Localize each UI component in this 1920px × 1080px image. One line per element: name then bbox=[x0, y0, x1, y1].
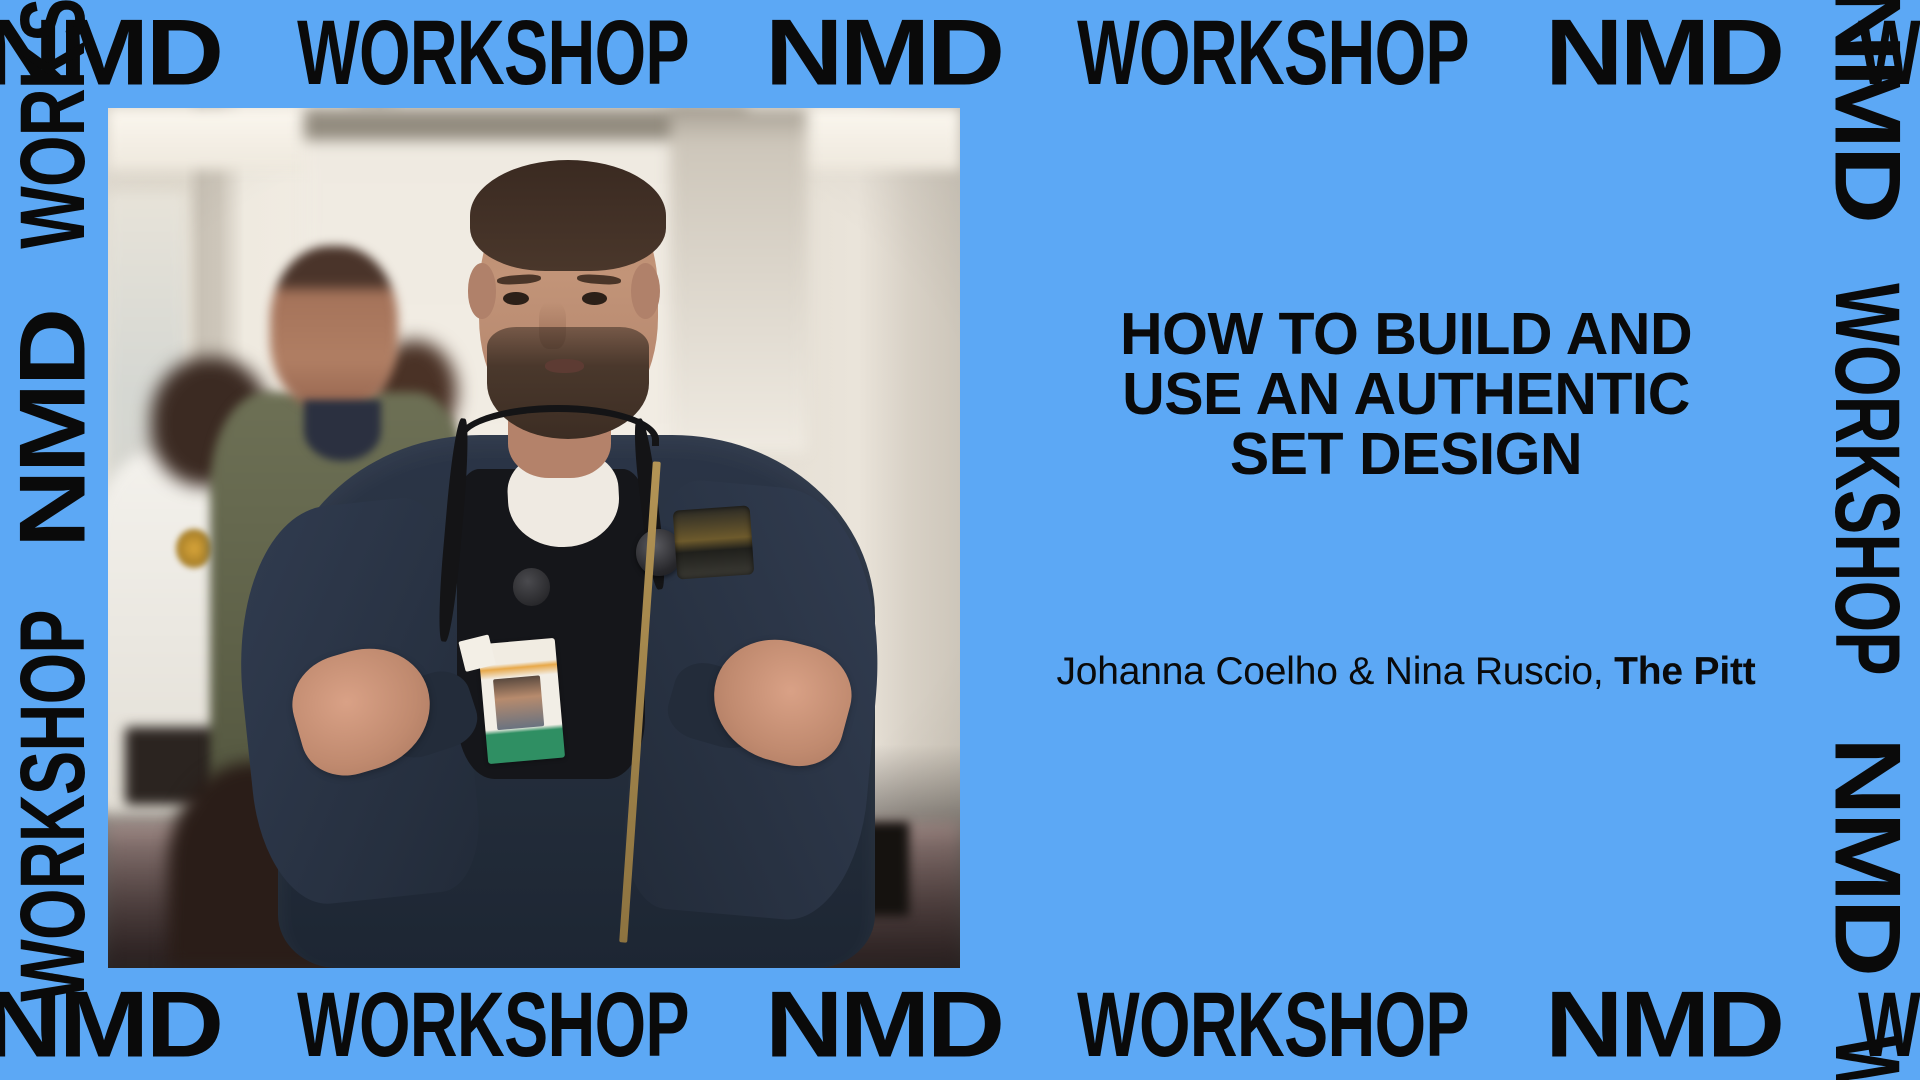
marquee-word-left-2: WORKSHOP bbox=[16, 0, 91, 251]
marquee-border-left: WORKSHOP NMD WORKSHOP NMD WORKSHOP bbox=[0, 0, 108, 1080]
photo-image bbox=[108, 108, 960, 968]
marquee-brand-top-3: NMD bbox=[1543, 16, 1784, 93]
marquee-border-bottom: NMD WORKSHOP NMD WORKSHOP NMD WORKSHOP bbox=[0, 972, 1920, 1080]
speaker-credit: Johanna Coelho & Nina Ruscio, The Pitt bbox=[1040, 648, 1772, 696]
show-title: The Pitt bbox=[1614, 650, 1755, 693]
marquee-word-top-1: WORKSHOP bbox=[295, 16, 690, 91]
photo-subject-eye-left bbox=[503, 292, 529, 305]
marquee-brand-left-1: NMD bbox=[16, 309, 93, 550]
photo-subject-ear-right bbox=[631, 263, 660, 319]
hospital-id-badge bbox=[478, 638, 565, 765]
photo-subject-ear-left bbox=[468, 263, 497, 319]
marquee-left-inner: WORKSHOP NMD WORKSHOP NMD WORKSHOP bbox=[0, 0, 108, 1080]
session-title-line-1: HOW TO BUILD AND bbox=[1000, 304, 1812, 364]
speaker-photo bbox=[108, 108, 960, 968]
workshop-poster: NMD WORKSHOP NMD WORKSHOP NMD WORKSHOP N… bbox=[0, 0, 1920, 1080]
photo-subject-hair bbox=[470, 160, 666, 272]
photo-subject-eye-right bbox=[582, 292, 608, 305]
marquee-brand-top-2: NMD bbox=[762, 16, 1003, 93]
marquee-word-right-2: WORKSHOP bbox=[1828, 1034, 1903, 1080]
session-title: HOW TO BUILD AND USE AN AUTHENTIC SET DE… bbox=[1000, 304, 1812, 485]
session-title-line-2: USE AN AUTHENTIC bbox=[1000, 364, 1812, 424]
marquee-brand-right-2: NMD bbox=[1828, 734, 1905, 975]
poster-content-column: HOW TO BUILD AND USE AN AUTHENTIC SET DE… bbox=[1000, 108, 1812, 968]
marquee-right-inner: NMD WORKSHOP NMD WORKSHOP NMD bbox=[1812, 0, 1920, 1080]
burgh-patch-icon bbox=[672, 505, 753, 579]
speaker-names: Johanna Coelho & Nina bbox=[1056, 650, 1464, 693]
marquee-brand-right-1: NMD bbox=[1828, 0, 1905, 223]
marquee-bottom-inner: NMD WORKSHOP NMD WORKSHOP NMD WORKSHOP bbox=[0, 988, 1920, 1063]
marquee-word-top-2: WORKSHOP bbox=[1076, 16, 1471, 91]
marquee-brand-bottom-2: NMD bbox=[762, 988, 1003, 1065]
marquee-brand-bottom-3: NMD bbox=[1543, 988, 1784, 1065]
marquee-word-bottom-2: WORKSHOP bbox=[1076, 988, 1471, 1063]
marquee-border-top: NMD WORKSHOP NMD WORKSHOP NMD WORKSHOP bbox=[0, 0, 1920, 108]
marquee-word-bottom-1: WORKSHOP bbox=[295, 988, 690, 1063]
marquee-border-right: NMD WORKSHOP NMD WORKSHOP NMD bbox=[1812, 0, 1920, 1080]
badge-reel-icon bbox=[513, 568, 550, 606]
photo-bg-person-scrubs-head bbox=[270, 246, 398, 409]
id-badge-portrait bbox=[492, 676, 544, 731]
photo-bg-scrubs-collar bbox=[304, 400, 381, 460]
speaker-names-cont: Ruscio, bbox=[1475, 650, 1604, 693]
marquee-word-left-1: WORKSHOP bbox=[16, 609, 91, 1004]
photo-bg-guard-badge-icon bbox=[176, 529, 212, 568]
photo-subject-mouth bbox=[545, 359, 584, 373]
marquee-word-right-1: WORKSHOP bbox=[1828, 281, 1903, 676]
session-title-line-3: SET DESIGN bbox=[1000, 424, 1812, 484]
photo-bg-doorframe-secondary bbox=[670, 108, 806, 452]
marquee-top-inner: NMD WORKSHOP NMD WORKSHOP NMD WORKSHOP bbox=[0, 16, 1920, 91]
